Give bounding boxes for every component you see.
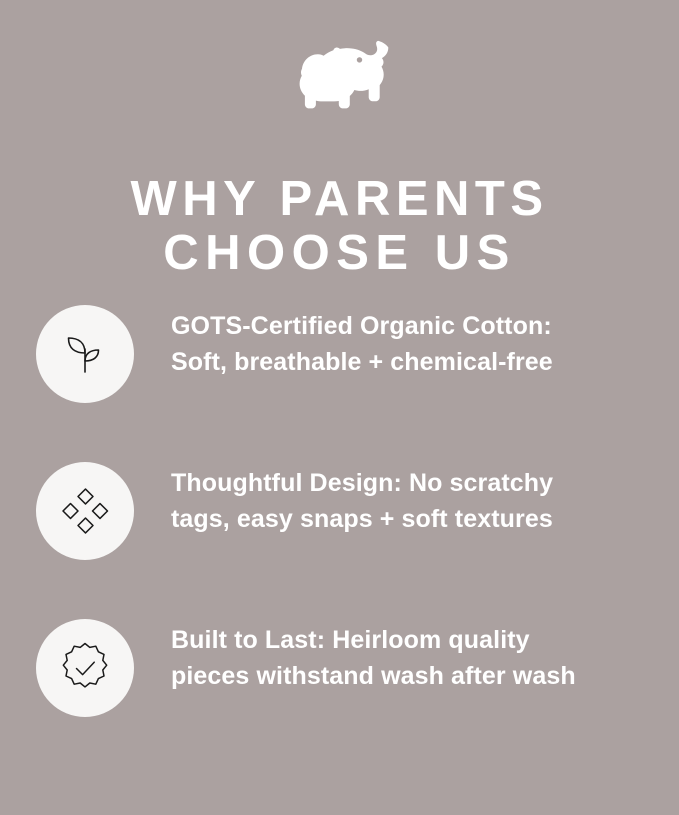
feature-item: GOTS-Certified Organic Cotton: Soft, bre… (0, 295, 679, 452)
sprout-icon (59, 328, 111, 380)
feature-text: Thoughtful Design: No scratchy tags, eas… (171, 465, 641, 537)
feature-text: Built to Last: Heirloom quality pieces w… (171, 622, 641, 694)
page-title-line-1: WHY PARENTS (0, 172, 679, 226)
four-diamonds-icon (59, 485, 111, 537)
verified-badge-check-icon (57, 640, 113, 696)
feature-text: GOTS-Certified Organic Cotton: Soft, bre… (171, 308, 641, 380)
feature-text-line-2: tags, easy snaps + soft textures (171, 501, 641, 537)
feature-text-line-1: Built to Last: Heirloom quality (171, 622, 641, 658)
feature-list: GOTS-Certified Organic Cotton: Soft, bre… (0, 295, 679, 766)
feature-icon-badge (36, 462, 134, 560)
feature-item: Thoughtful Design: No scratchy tags, eas… (0, 452, 679, 609)
feature-icon-badge (36, 619, 134, 717)
feature-item: Built to Last: Heirloom quality pieces w… (0, 609, 679, 766)
feature-text-line-1: Thoughtful Design: No scratchy (171, 465, 641, 501)
page-title: WHY PARENTS CHOOSE US (0, 172, 679, 280)
brand-logo (0, 38, 679, 110)
elephant-logo-icon (291, 38, 389, 110)
feature-text-line-2: Soft, breathable + chemical-free (171, 344, 641, 380)
page-title-line-2: CHOOSE US (0, 226, 679, 280)
why-parents-choose-us-panel: WHY PARENTS CHOOSE US GOTS-Certified Org… (0, 0, 679, 815)
feature-text-line-2: pieces withstand wash after wash (171, 658, 641, 694)
feature-text-line-1: GOTS-Certified Organic Cotton: (171, 308, 641, 344)
feature-icon-badge (36, 305, 134, 403)
